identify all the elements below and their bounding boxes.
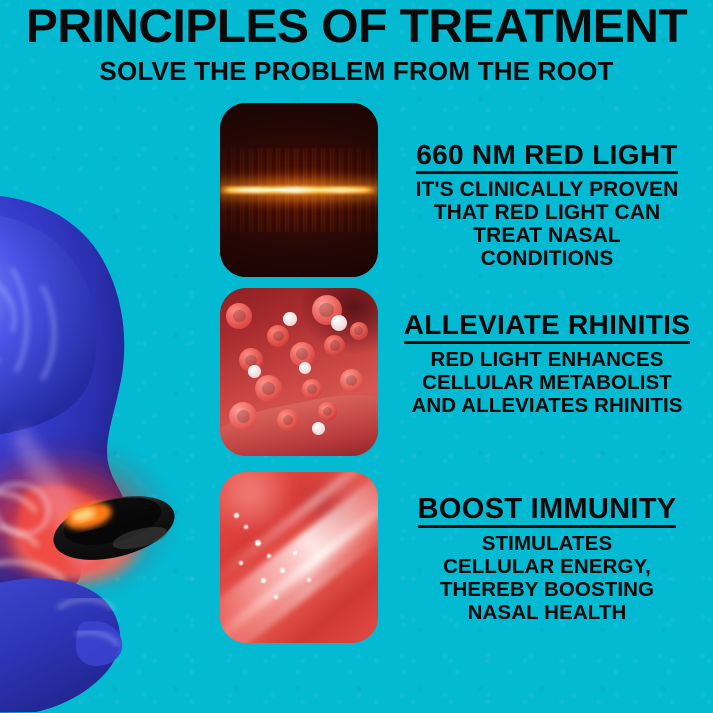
white-blood-cell bbox=[312, 422, 325, 435]
red-blood-cell bbox=[302, 379, 322, 399]
feature-body-line: RED LIGHT ENHANCES bbox=[386, 348, 708, 371]
immunity-light-burst-image bbox=[220, 472, 378, 643]
feature-body-line: THEREBY BOOSTING bbox=[386, 578, 708, 601]
red-blood-cell bbox=[340, 369, 363, 392]
page-title: PRINCIPLES OF TREATMENT bbox=[0, 0, 713, 50]
waveform-hot-line bbox=[223, 189, 375, 191]
white-blood-cell bbox=[331, 315, 347, 331]
feature-body-line: CELLULAR METABOLIST bbox=[386, 371, 708, 394]
white-blood-cell bbox=[299, 362, 311, 374]
feature-body-line: AND ALLEVIATES RHINITIS bbox=[386, 394, 708, 417]
feature-block-boost-immunity: BOOST IMMUNITY STIMULATES CELLULAR ENERG… bbox=[386, 494, 708, 624]
red-blood-cell bbox=[350, 322, 368, 340]
feature-block-alleviate-rhinitis: ALLEVIATE RHINITIS RED LIGHT ENHANCES CE… bbox=[386, 310, 708, 417]
red-blood-cell bbox=[277, 409, 299, 431]
red-blood-cell bbox=[255, 375, 282, 402]
red-blood-cells-image bbox=[220, 288, 378, 456]
feature-body-line: STIMULATES bbox=[386, 532, 708, 555]
red-light-waveform-image bbox=[220, 103, 378, 277]
white-blood-cell bbox=[283, 312, 297, 326]
feature-body-line: CONDITIONS bbox=[386, 247, 708, 270]
light-spark bbox=[274, 595, 278, 599]
feature-body: STIMULATES CELLULAR ENERGY, THEREBY BOOS… bbox=[386, 532, 708, 624]
human-head-anatomy-illustration bbox=[0, 190, 238, 713]
light-spark bbox=[293, 551, 297, 555]
page-subtitle: SOLVE THE PROBLEM FROM THE ROOT bbox=[0, 56, 713, 86]
feature-body-line: TREAT NASAL bbox=[386, 224, 708, 247]
header: PRINCIPLES OF TREATMENT SOLVE THE PROBLE… bbox=[0, 0, 713, 86]
light-spark bbox=[307, 578, 311, 582]
feature-heading: ALLEVIATE RHINITIS bbox=[404, 310, 690, 344]
poster: PRINCIPLES OF TREATMENT SOLVE THE PROBLE… bbox=[0, 0, 713, 713]
light-spark bbox=[244, 525, 248, 529]
feature-body-line: CELLULAR ENERGY, bbox=[386, 555, 708, 578]
feature-body: RED LIGHT ENHANCES CELLULAR METABOLIST A… bbox=[386, 348, 708, 417]
feature-heading: 660 NM RED LIGHT bbox=[416, 140, 678, 174]
feature-heading: BOOST IMMUNITY bbox=[418, 494, 677, 528]
light-spark bbox=[239, 561, 243, 565]
feature-body: IT'S CLINICALLY PROVEN THAT RED LIGHT CA… bbox=[386, 178, 708, 270]
nasal-device-icon bbox=[47, 485, 181, 571]
feature-block-red-light: 660 NM RED LIGHT IT'S CLINICALLY PROVEN … bbox=[386, 140, 708, 270]
feature-body-line: IT'S CLINICALLY PROVEN bbox=[386, 178, 708, 201]
light-spark bbox=[280, 568, 285, 573]
feature-body-line: NASAL HEALTH bbox=[386, 601, 708, 624]
feature-body-line: THAT RED LIGHT CAN bbox=[386, 201, 708, 224]
